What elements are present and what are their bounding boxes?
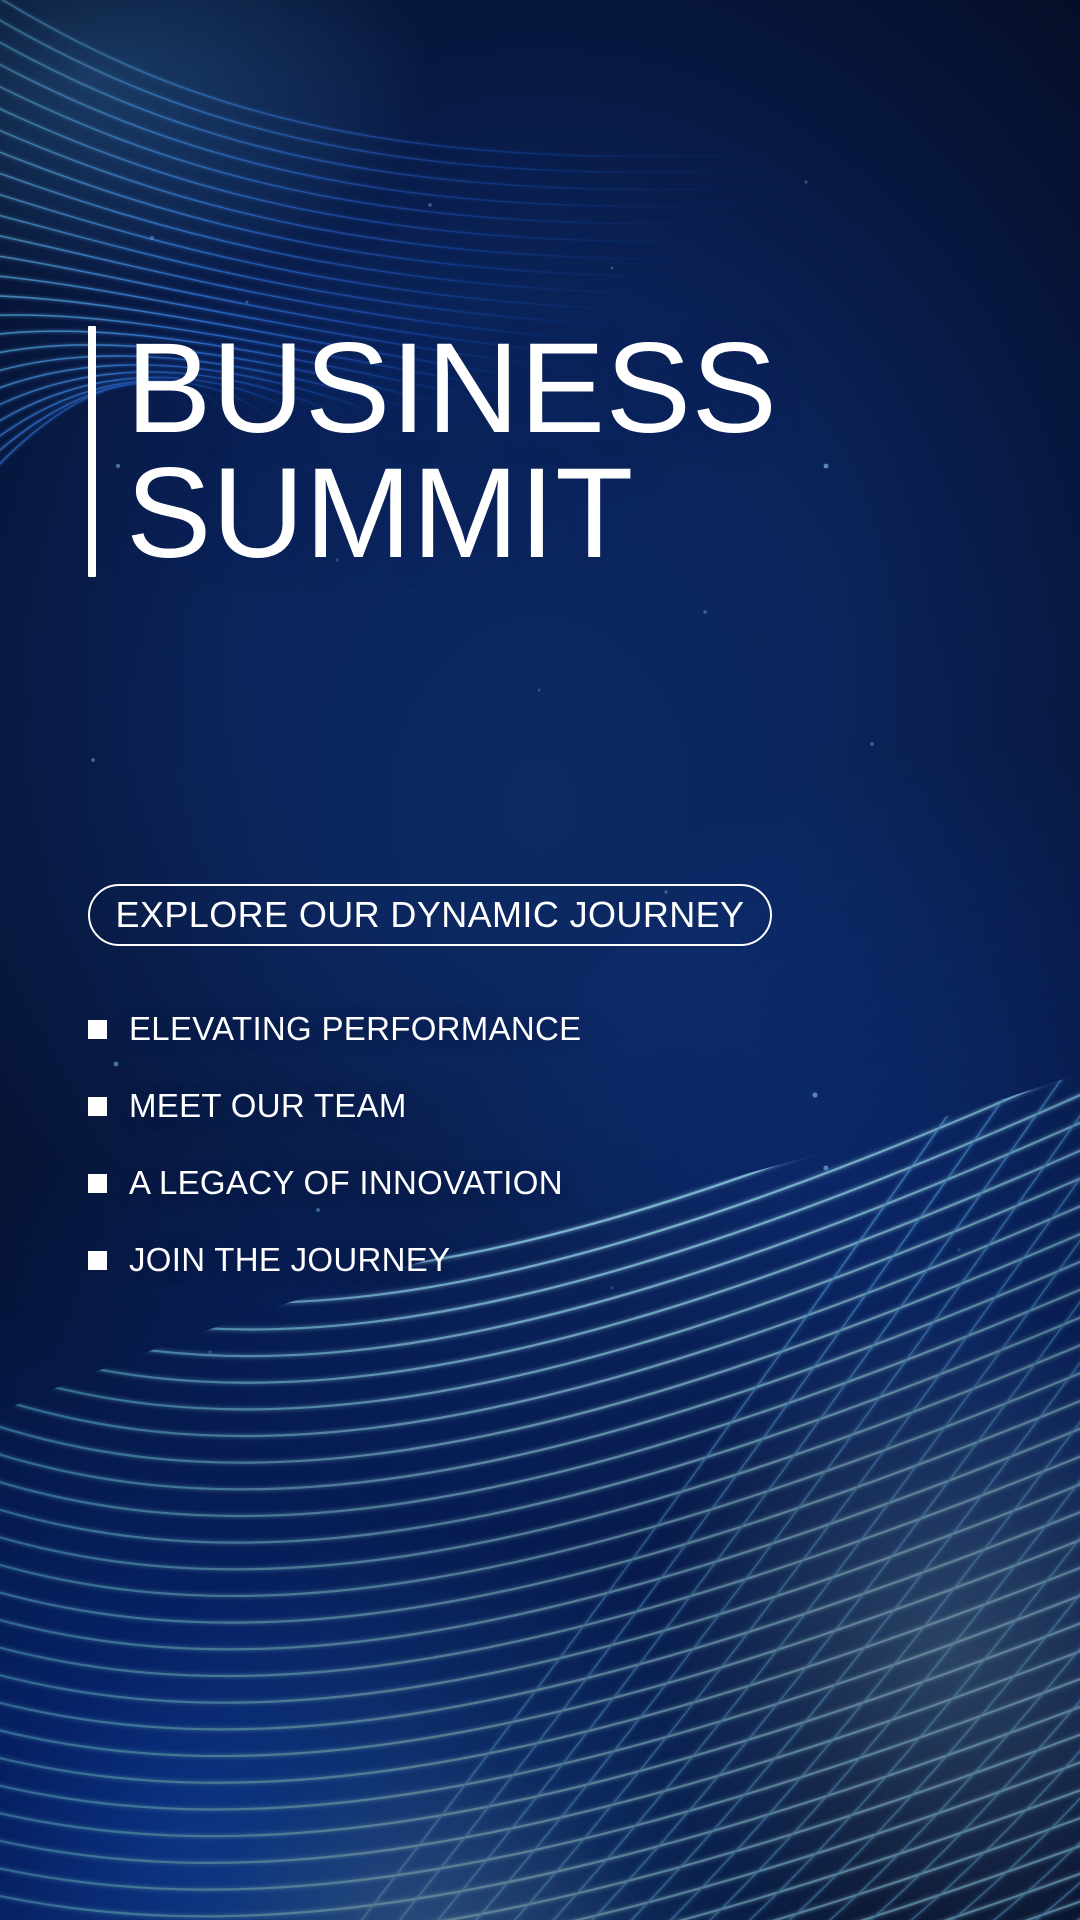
list-item-label: ELEVATING PERFORMANCE: [129, 1010, 581, 1048]
list-item-label: MEET OUR TEAM: [129, 1087, 407, 1125]
agenda-list: ELEVATING PERFORMANCE MEET OUR TEAM A LE…: [88, 1012, 848, 1277]
square-bullet-icon: [88, 1174, 107, 1193]
square-bullet-icon: [88, 1251, 107, 1270]
title-block: BUSINESS SUMMIT: [88, 326, 777, 577]
list-item[interactable]: ELEVATING PERFORMANCE: [88, 1012, 848, 1046]
list-item-label: JOIN THE JOURNEY: [129, 1241, 450, 1279]
square-bullet-icon: [88, 1020, 107, 1039]
poster-content: BUSINESS SUMMIT EXPLORE OUR DYNAMIC JOUR…: [0, 0, 1080, 1920]
badge-label: EXPLORE OUR DYNAMIC JOURNEY: [116, 894, 745, 936]
list-item[interactable]: MEET OUR TEAM: [88, 1089, 848, 1123]
explore-journey-badge[interactable]: EXPLORE OUR DYNAMIC JOURNEY: [88, 884, 772, 946]
page-title: BUSINESS SUMMIT: [126, 326, 777, 577]
list-item[interactable]: A LEGACY OF INNOVATION: [88, 1166, 848, 1200]
list-item[interactable]: JOIN THE JOURNEY: [88, 1243, 848, 1277]
square-bullet-icon: [88, 1097, 107, 1116]
poster-canvas: BUSINESS SUMMIT EXPLORE OUR DYNAMIC JOUR…: [0, 0, 1080, 1920]
title-accent-bar: [88, 326, 96, 577]
list-item-label: A LEGACY OF INNOVATION: [129, 1164, 563, 1202]
